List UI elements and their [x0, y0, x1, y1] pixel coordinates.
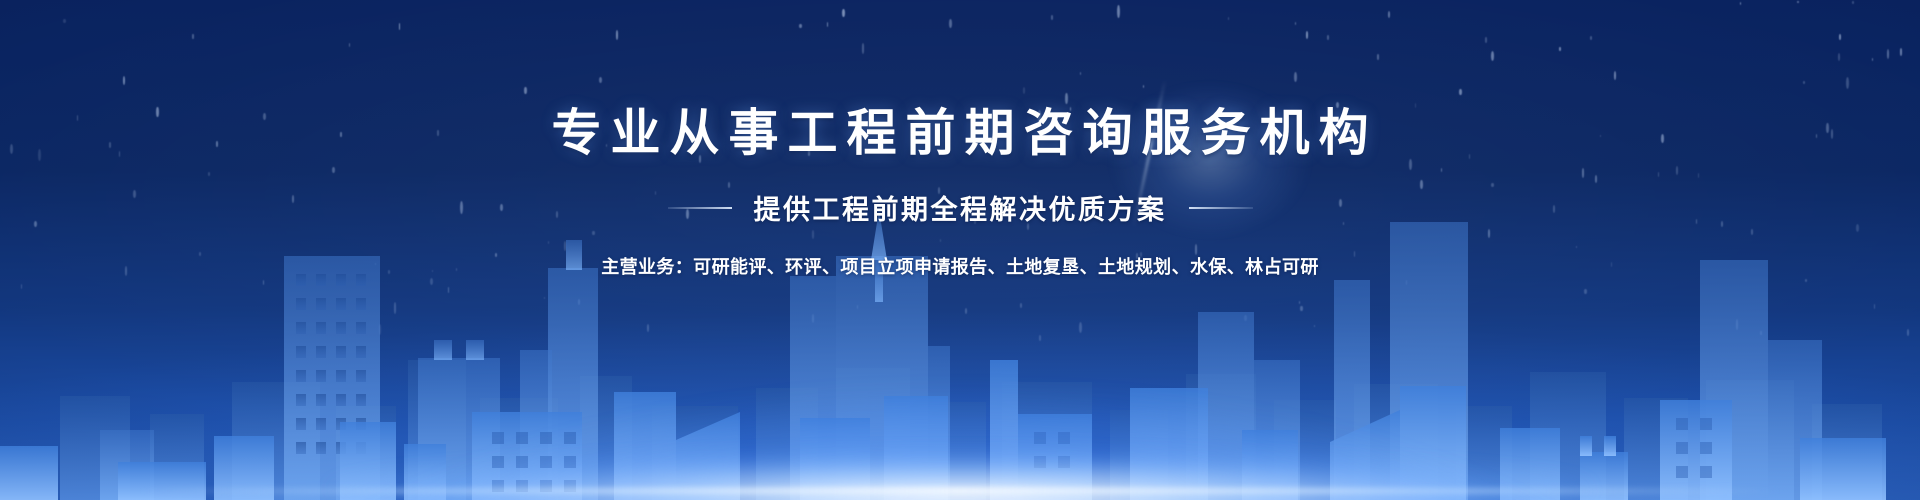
banner-subtitle-row: 提供工程前期全程解决优质方案 [668, 188, 1253, 227]
dash-left-icon [668, 207, 732, 209]
banner-business-line: 主营业务：可研能评、环评、项目立项申请报告、土地复垦、土地规划、水保、林占可研 [601, 253, 1319, 279]
banner-subtitle: 提供工程前期全程解决优质方案 [754, 188, 1167, 227]
banner-title: 专业从事工程前期咨询服务机构 [543, 108, 1378, 158]
dash-right-icon [1189, 207, 1253, 209]
hero-banner: 专业从事工程前期咨询服务机构 提供工程前期全程解决优质方案 主营业务：可研能评、… [0, 0, 1920, 500]
banner-content: 专业从事工程前期咨询服务机构 提供工程前期全程解决优质方案 主营业务：可研能评、… [0, 0, 1920, 500]
